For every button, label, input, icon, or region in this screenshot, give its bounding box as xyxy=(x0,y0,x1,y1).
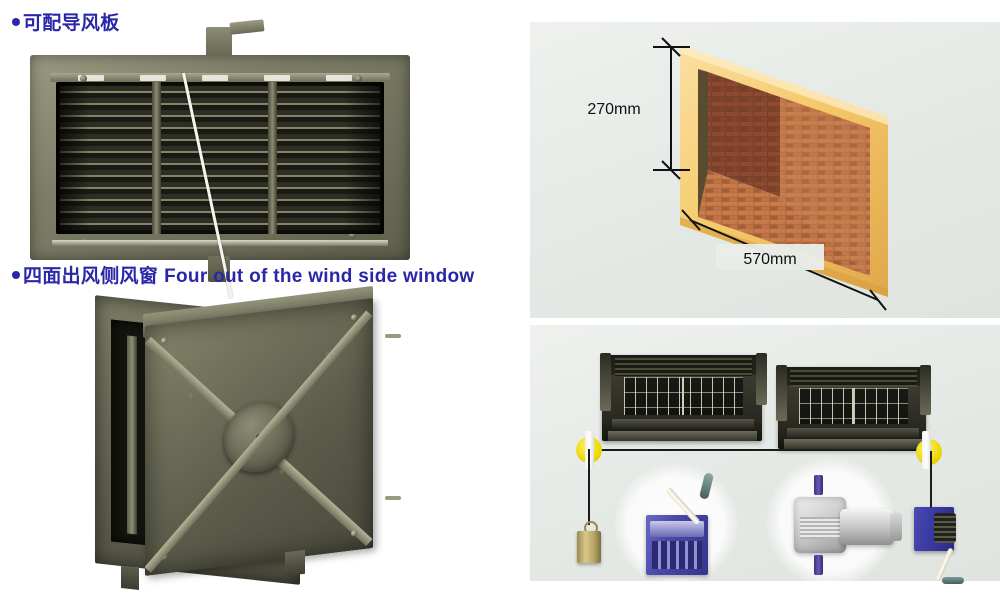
louver-tab xyxy=(202,75,228,81)
motor-gearbox xyxy=(794,497,846,553)
vent-sill xyxy=(784,439,922,449)
side-window-back-leg xyxy=(121,566,139,590)
side-window-screw xyxy=(351,314,357,321)
inset-winch-drum-slots xyxy=(652,541,702,569)
side-window-screw xyxy=(161,337,167,344)
louver-divider xyxy=(152,82,161,234)
motor-end-cap xyxy=(890,513,902,541)
side-window-guide-rail xyxy=(127,335,137,534)
vent-cross-bar xyxy=(612,419,754,429)
vent-louver-top xyxy=(790,370,917,386)
counterweight xyxy=(577,531,601,563)
louver-slats xyxy=(60,86,380,230)
winch-drum xyxy=(934,513,956,543)
side-window-screw xyxy=(161,553,167,560)
louver-screw xyxy=(80,75,87,82)
louver-mount-bracket xyxy=(229,19,264,34)
dimension-label-width: 570mm xyxy=(743,251,796,268)
winch-cable xyxy=(930,451,932,509)
panel-cable-linkage-diagram xyxy=(530,325,1000,581)
vent-hinge-left xyxy=(600,353,611,411)
side-window-center-hub xyxy=(224,398,294,477)
vent-mesh-divider xyxy=(852,388,854,424)
panel-wall-opening-diagram: 270mm 570mm xyxy=(530,22,1000,318)
winch-crank-grip xyxy=(942,577,964,584)
louver-inner-shadow-right xyxy=(344,82,384,234)
photo-four-way-side-window xyxy=(95,300,395,585)
louver-outer-frame xyxy=(30,55,410,260)
wall-opening-svg: 270mm 570mm xyxy=(530,22,1000,318)
linkage-cable-horizontal xyxy=(586,449,936,451)
louver-inner-shadow-left xyxy=(56,82,90,234)
winch-right xyxy=(914,507,954,551)
vent-mesh-divider xyxy=(682,377,684,415)
side-window-pivot-pin xyxy=(385,334,401,338)
bullet-icon xyxy=(12,18,20,26)
heading-1-chinese: 可配导风板 xyxy=(23,12,120,34)
side-window-screw xyxy=(351,530,357,537)
heading-2-english: Four out of the wind side window xyxy=(164,266,474,287)
heading-air-deflector: 可配导风板 xyxy=(12,8,120,35)
vent-hinge-right xyxy=(776,365,787,421)
photo-air-deflector-louver-vent xyxy=(30,55,410,260)
side-window-front-leg xyxy=(285,550,305,576)
vent-sill xyxy=(608,431,757,441)
inset-manual-winch xyxy=(646,515,708,575)
vent-hinge-left-far xyxy=(756,353,767,405)
louver-tab xyxy=(140,75,166,81)
louver-tab xyxy=(326,75,352,81)
motor-shaft-top xyxy=(814,475,823,495)
inset-gear-motor xyxy=(794,489,906,565)
vent-hinge-right-far xyxy=(920,365,931,415)
louver-tab xyxy=(264,75,290,81)
vent-window-left xyxy=(602,355,762,441)
motor-housing xyxy=(840,509,894,545)
dimension-label-height: 270mm xyxy=(587,101,640,118)
counterweight-cable xyxy=(588,449,590,525)
side-window-door-panel xyxy=(145,298,373,576)
vent-cross-bar xyxy=(787,428,919,438)
bullet-icon xyxy=(12,271,20,279)
louver-divider xyxy=(268,82,277,234)
dimension-height-270mm: 270mm xyxy=(587,38,690,179)
motor-shaft-bottom xyxy=(814,555,823,575)
vent-window-right xyxy=(778,367,926,449)
motor-cooling-fins xyxy=(800,517,840,539)
vent-louver-top xyxy=(615,358,753,375)
louver-screw xyxy=(355,75,362,82)
louver-cavity xyxy=(56,82,384,234)
side-window-pivot-pin xyxy=(385,496,401,500)
winch-crank-arm xyxy=(935,547,953,580)
side-window-hub-bolt xyxy=(256,434,263,442)
heading-four-way-side-window: 四面出风侧风窗Four out of the wind side window xyxy=(12,261,475,288)
heading-2-chinese: 四面出风侧风窗 xyxy=(23,265,158,287)
